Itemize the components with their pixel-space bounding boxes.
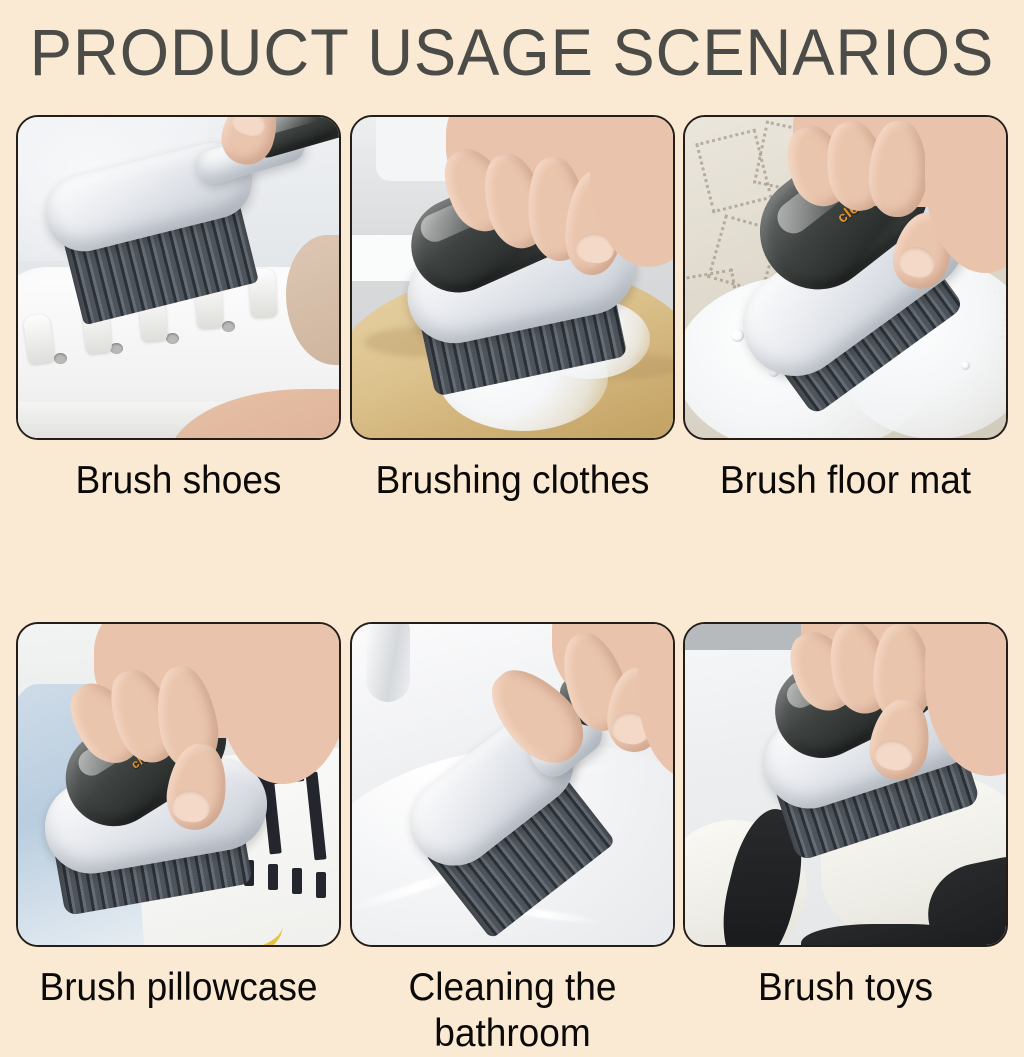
scenario-card-brushing-clothes: Brushing clothes	[350, 115, 675, 504]
scenario-caption-brush-shoes: Brush shoes	[24, 458, 333, 504]
scenario-caption-cleaning-the-bathroom: Cleaning the bathroom	[358, 965, 667, 1057]
scenario-grid: Brush shoes	[16, 115, 1008, 1057]
scenario-image-brushing-clothes	[350, 115, 675, 440]
scenario-card-brush-floor-mat: clean Brush floor mat	[683, 115, 1008, 504]
scenario-caption-brush-floor-mat: Brush floor mat	[691, 458, 1000, 504]
scenario-image-brush-floor-mat: clean	[683, 115, 1008, 440]
scenario-image-brush-toys	[683, 622, 1008, 947]
scenario-caption-brushing-clothes: Brushing clothes	[358, 458, 667, 504]
scenario-image-brush-pillowcase: clean	[16, 622, 341, 947]
scenario-card-brush-shoes: Brush shoes	[16, 115, 341, 504]
scenario-card-cleaning-the-bathroom: Cleaning the bathroom	[350, 622, 675, 1057]
scenario-row-1: Brush shoes	[16, 115, 1008, 504]
scenario-image-brush-shoes	[16, 115, 341, 440]
scenario-card-brush-pillowcase: clean Brush pillowcase	[16, 622, 341, 1011]
scenario-image-cleaning-the-bathroom	[350, 622, 675, 947]
scenario-caption-brush-toys: Brush toys	[691, 965, 1000, 1011]
page-title: PRODUCT USAGE SCENARIOS	[20, 12, 1003, 92]
scenario-card-brush-toys: Brush toys	[683, 622, 1008, 1011]
scenario-caption-brush-pillowcase: Brush pillowcase	[24, 965, 333, 1011]
caption-line-1: Cleaning the	[358, 965, 667, 1011]
caption-line-2: bathroom	[358, 1011, 667, 1057]
scenario-row-2: clean Brush pillowcase	[16, 622, 1008, 1057]
